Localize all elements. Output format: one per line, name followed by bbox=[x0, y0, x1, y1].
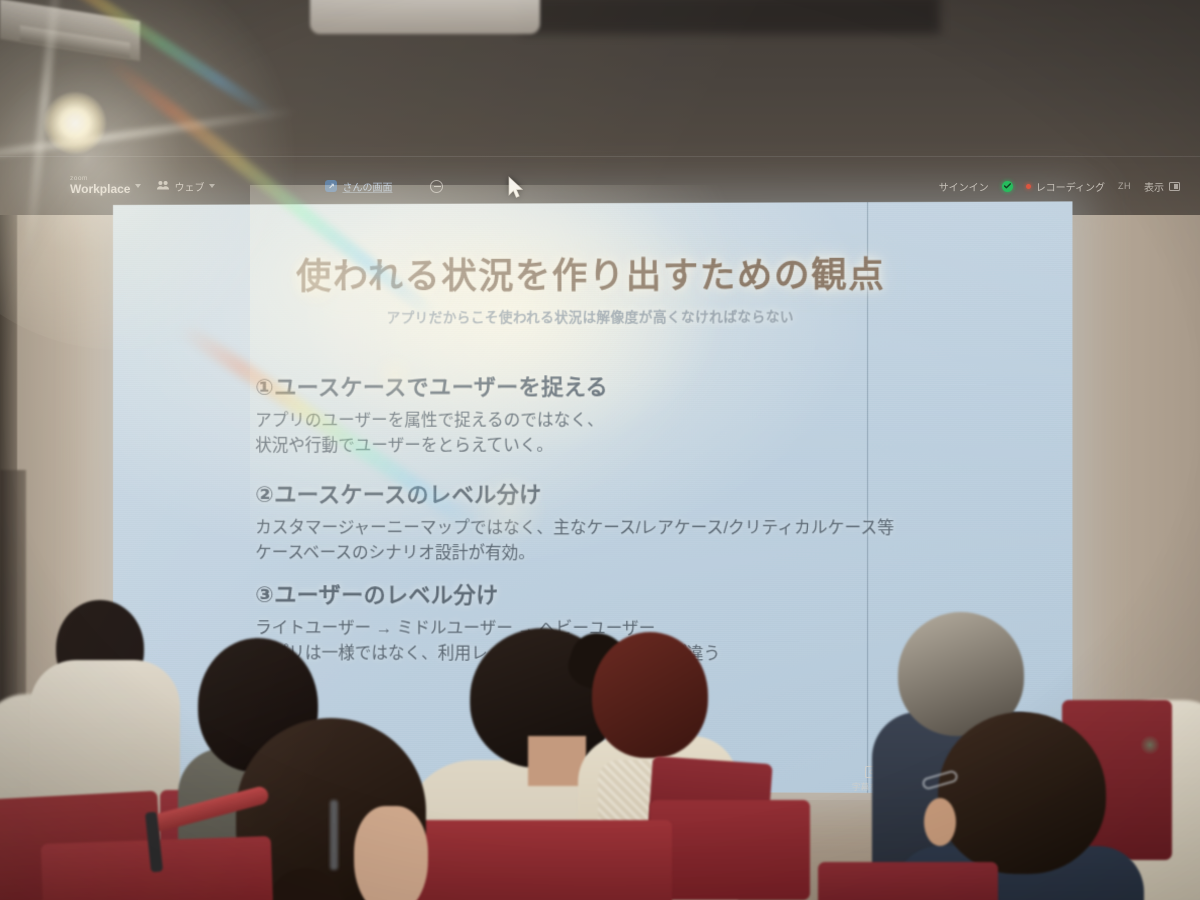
slide-subtitle: アプリだからこそ使われる状況は解像度が高くなければならない bbox=[113, 305, 1072, 327]
ceiling-shadow bbox=[520, 0, 940, 34]
wall-seam-line bbox=[0, 156, 1200, 157]
section-2-body: カスタマージャーニーマップではなく、主なケース/レアケース/クリティカルケース等… bbox=[255, 516, 894, 567]
slide-title: 使われる状況を作り出すための観点 bbox=[113, 246, 1072, 300]
recording-indicator[interactable]: レコーディング bbox=[1026, 179, 1105, 194]
people-icon bbox=[157, 180, 169, 193]
web-menu-item[interactable]: ウェブ bbox=[157, 179, 215, 194]
sign-in-button[interactable]: サインイン bbox=[939, 179, 989, 194]
slide-section-2: ②ユースケースのレベル分け カスタマージャーニーマップではなく、主なケース/レア… bbox=[255, 477, 894, 567]
screen-share-label: さんの画面 bbox=[342, 179, 392, 194]
sign-in-label: サインイン bbox=[939, 179, 989, 194]
web-menu-label: ウェブ bbox=[174, 179, 204, 194]
door-frame bbox=[0, 470, 26, 710]
ceiling-light-panel bbox=[310, 0, 540, 34]
zoom-workplace-brand[interactable]: zoom Workplace bbox=[70, 176, 141, 195]
section-2-heading: ②ユースケースのレベル分け bbox=[255, 477, 894, 509]
photo-scene: 使われる状況を作り出すための観点 アプリだからこそ使われる状況は解像度が高くなけ… bbox=[0, 0, 1200, 900]
section-2-line-2: ケースベースのシナリオ設計が有効。 bbox=[255, 541, 894, 567]
seat-back bbox=[650, 800, 810, 900]
recording-label: レコーディング bbox=[1036, 179, 1105, 194]
zoom-top-toolbar: zoom Workplace ウェブ ↗ さんの画面 bbox=[0, 162, 1200, 210]
pause-share-button[interactable] bbox=[430, 180, 443, 193]
zoom-brand-small: zoom bbox=[70, 176, 130, 183]
screen-share-icon: ↗ bbox=[325, 180, 337, 192]
ceiling-spot-light bbox=[44, 92, 106, 154]
pause-share-icon bbox=[430, 180, 443, 193]
slide-section-1: ①ユースケースでユーザーを捉える アプリのユーザーを属性で捉えるのではなく、 状… bbox=[255, 369, 608, 459]
display-label: 表示 bbox=[1144, 179, 1164, 194]
verified-check-icon bbox=[1002, 181, 1013, 192]
chevron-down-icon bbox=[135, 184, 141, 188]
section-1-heading: ①ユースケースでユーザーを捉える bbox=[255, 369, 608, 402]
screen-share-indicator[interactable]: ↗ さんの画面 bbox=[325, 179, 392, 194]
section-3-heading: ③ユーザーのレベル分け bbox=[255, 577, 720, 610]
lens-flare-ghost-green bbox=[1140, 735, 1160, 755]
section-1-line-1: アプリのユーザーを属性で捉えるのではなく、 bbox=[255, 408, 608, 434]
chevron-down-icon bbox=[209, 184, 215, 188]
seat-post bbox=[330, 800, 338, 870]
section-2-line-1: カスタマージャーニーマップではなく、主なケース/レアケース/クリティカルケース等 bbox=[255, 516, 894, 541]
display-options-button[interactable]: 表示 bbox=[1144, 179, 1180, 194]
section-1-line-2: 状況や行動でユーザーをとらえていく。 bbox=[255, 434, 608, 459]
language-indicator[interactable]: ZH bbox=[1118, 181, 1131, 191]
zoom-brand-label: Workplace bbox=[70, 182, 130, 196]
mouse-cursor-arrow bbox=[508, 176, 524, 199]
seat-back bbox=[818, 862, 998, 900]
section-1-body: アプリのユーザーを属性で捉えるのではなく、 状況や行動でユーザーをとらえていく。 bbox=[255, 408, 608, 459]
display-screen-icon bbox=[1169, 182, 1180, 191]
recording-dot-icon bbox=[1026, 184, 1031, 189]
